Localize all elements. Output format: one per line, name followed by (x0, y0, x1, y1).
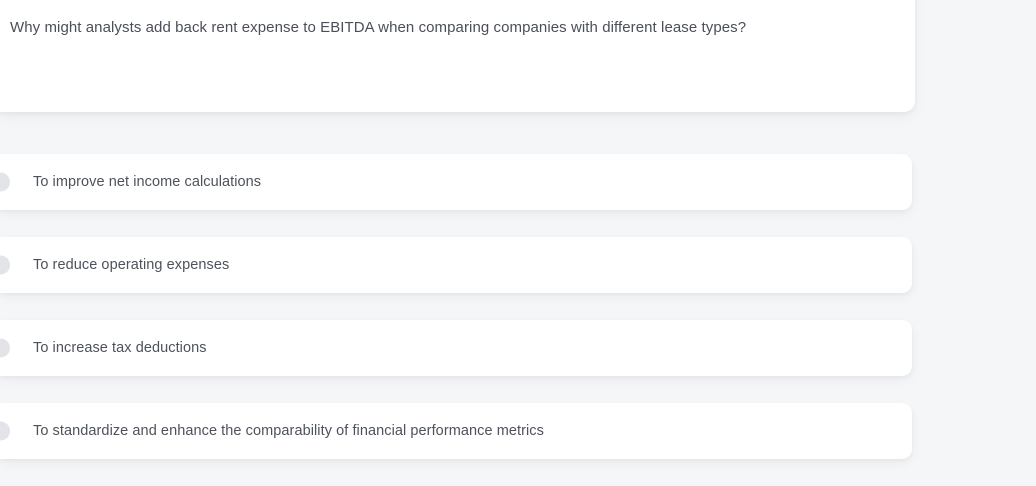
option-row-3[interactable]: To increase tax deductions (0, 320, 912, 376)
radio-unchecked-icon[interactable] (0, 256, 10, 275)
option-label-1: To improve net income calculations (33, 172, 261, 192)
option-label-4: To standardize and enhance the comparabi… (33, 421, 544, 441)
question-card: Why might analysts add back rent expense… (0, 0, 915, 112)
question-text: Why might analysts add back rent expense… (10, 17, 900, 39)
radio-unchecked-icon[interactable] (0, 339, 10, 358)
option-label-3: To increase tax deductions (33, 338, 207, 358)
options-list: To improve net income calculations To re… (0, 154, 912, 486)
option-label-2: To reduce operating expenses (33, 255, 229, 275)
option-row-1[interactable]: To improve net income calculations (0, 154, 912, 210)
quiz-viewport: Why might analysts add back rent expense… (0, 0, 1036, 455)
radio-unchecked-icon[interactable] (0, 173, 10, 192)
radio-unchecked-icon[interactable] (0, 422, 10, 441)
option-row-4[interactable]: To standardize and enhance the comparabi… (0, 403, 912, 459)
option-row-2[interactable]: To reduce operating expenses (0, 237, 912, 293)
